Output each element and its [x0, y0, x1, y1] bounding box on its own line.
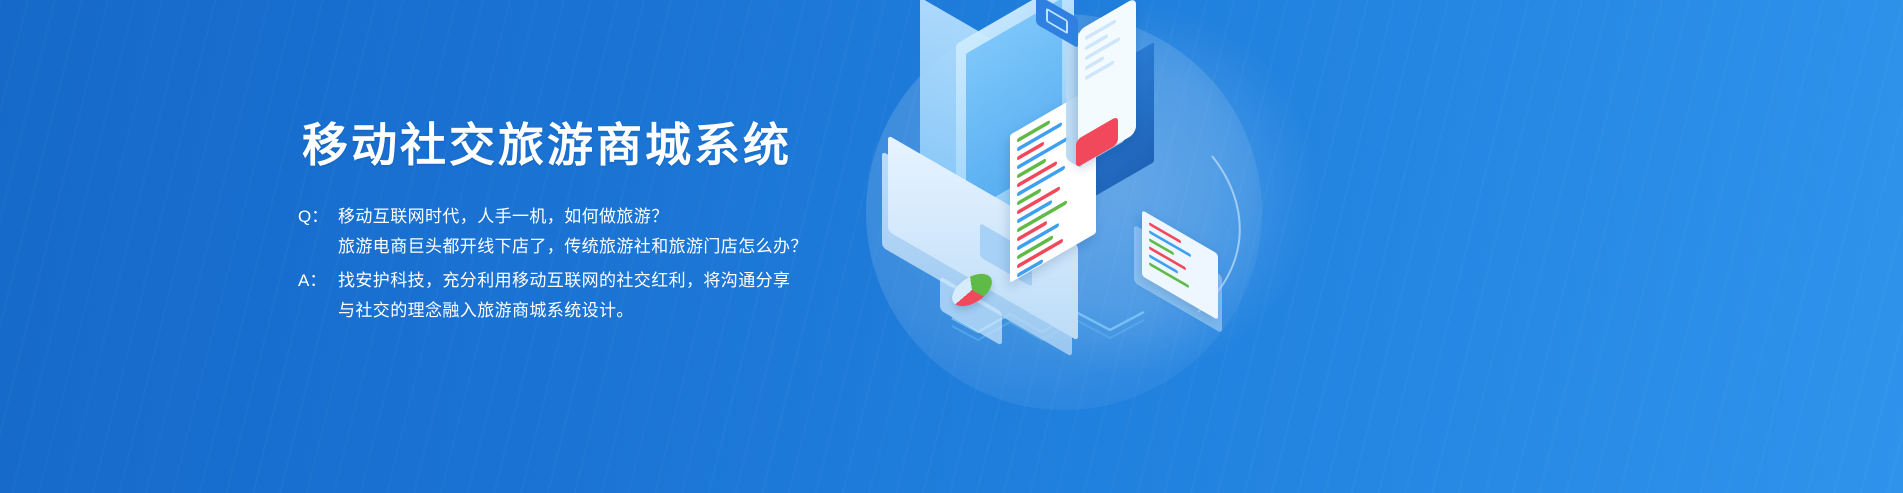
answer-row: A： 找安护科技，充分利用移动互联网的社交红利，将沟通分享 与社交的理念融入旅游…	[298, 266, 858, 326]
question-label: Q：	[298, 202, 338, 232]
answer-line-2: 与社交的理念融入旅游商城系统设计。	[338, 296, 858, 326]
hero-illustration	[860, 0, 1280, 400]
banner-text-block: 移动社交旅游商城系统 Q： 移动互联网时代，人手一机，如何做旅游？ 旅游电商巨头…	[298, 122, 858, 330]
question-lines: 移动互联网时代，人手一机，如何做旅游？ 旅游电商巨头都开线下店了，传统旅游社和旅…	[338, 202, 858, 262]
question-row: Q： 移动互联网时代，人手一机，如何做旅游？ 旅游电商巨头都开线下店了，传统旅游…	[298, 202, 858, 262]
answer-label: A：	[298, 266, 338, 296]
page-title: 移动社交旅游商城系统	[302, 122, 858, 168]
question-line-2: 旅游电商巨头都开线下店了，传统旅游社和旅游门店怎么办？	[338, 232, 858, 262]
hero-banner: 移动社交旅游商城系统 Q： 移动互联网时代，人手一机，如何做旅游？ 旅游电商巨头…	[0, 0, 1903, 493]
answer-lines: 找安护科技，充分利用移动互联网的社交红利，将沟通分享 与社交的理念融入旅游商城系…	[338, 266, 858, 326]
question-line-1: 移动互联网时代，人手一机，如何做旅游？	[338, 202, 858, 232]
answer-line-1: 找安护科技，充分利用移动互联网的社交红利，将沟通分享	[338, 266, 858, 296]
